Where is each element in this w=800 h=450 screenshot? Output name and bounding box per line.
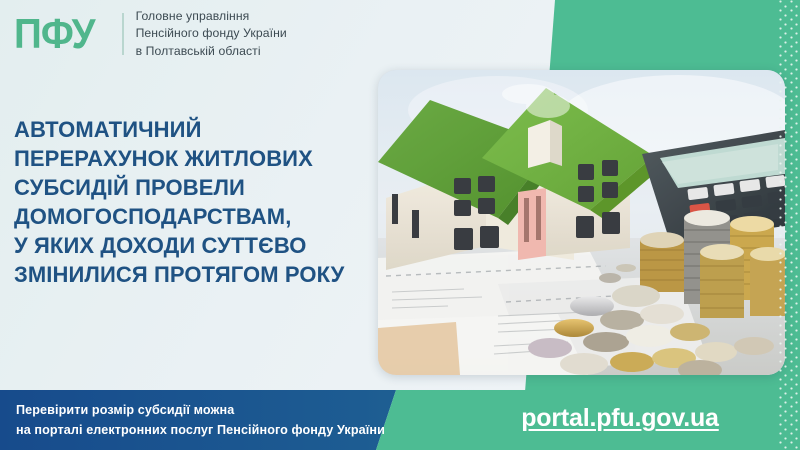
hero-photo — [378, 70, 785, 375]
org-line-1: Головне управління — [136, 8, 287, 25]
headline-line-4: ДОМОГОСПОДАРСТВАМ, — [14, 202, 364, 231]
headline-line-3: СУБСИДІЙ ПРОВЕЛИ — [14, 173, 364, 202]
logo-divider — [122, 13, 124, 55]
footer-bar: Перевірити розмір субсидії можна на порт… — [0, 390, 800, 450]
headline: АВТОМАТИЧНИЙ ПЕРЕРАХУНОК ЖИТЛОВИХ СУБСИД… — [14, 115, 364, 289]
headline-line-1: АВТОМАТИЧНИЙ — [14, 115, 364, 144]
headline-line-2: ПЕРЕРАХУНОК ЖИТЛОВИХ — [14, 144, 364, 173]
pfu-logo: ПФУ — [14, 13, 95, 55]
org-line-3: в Полтавській області — [136, 43, 287, 60]
footer-note-line-1: Перевірити розмір субсидії можна — [16, 401, 385, 421]
organization-name: Головне управління Пенсійного фонду Укра… — [136, 8, 287, 60]
photo-illustration — [378, 70, 785, 375]
org-line-2: Пенсійного фонду України — [136, 25, 287, 42]
dotted-edge-decoration — [778, 0, 800, 450]
footer-note: Перевірити розмір субсидії можна на порт… — [16, 401, 385, 440]
portal-url-link[interactable]: portal.pfu.gov.ua — [470, 404, 770, 433]
headline-line-5: У ЯКИХ ДОХОДИ СУТТЄВО — [14, 231, 364, 260]
footer-note-line-2: на порталі електронних послуг Пенсійного… — [16, 421, 385, 441]
brand-header: ПФУ Головне управління Пенсійного фонду … — [14, 8, 287, 60]
poster-banner: ПФУ Головне управління Пенсійного фонду … — [0, 0, 800, 450]
headline-line-6: ЗМІНИЛИСЯ ПРОТЯГОМ РОКУ — [14, 260, 364, 289]
